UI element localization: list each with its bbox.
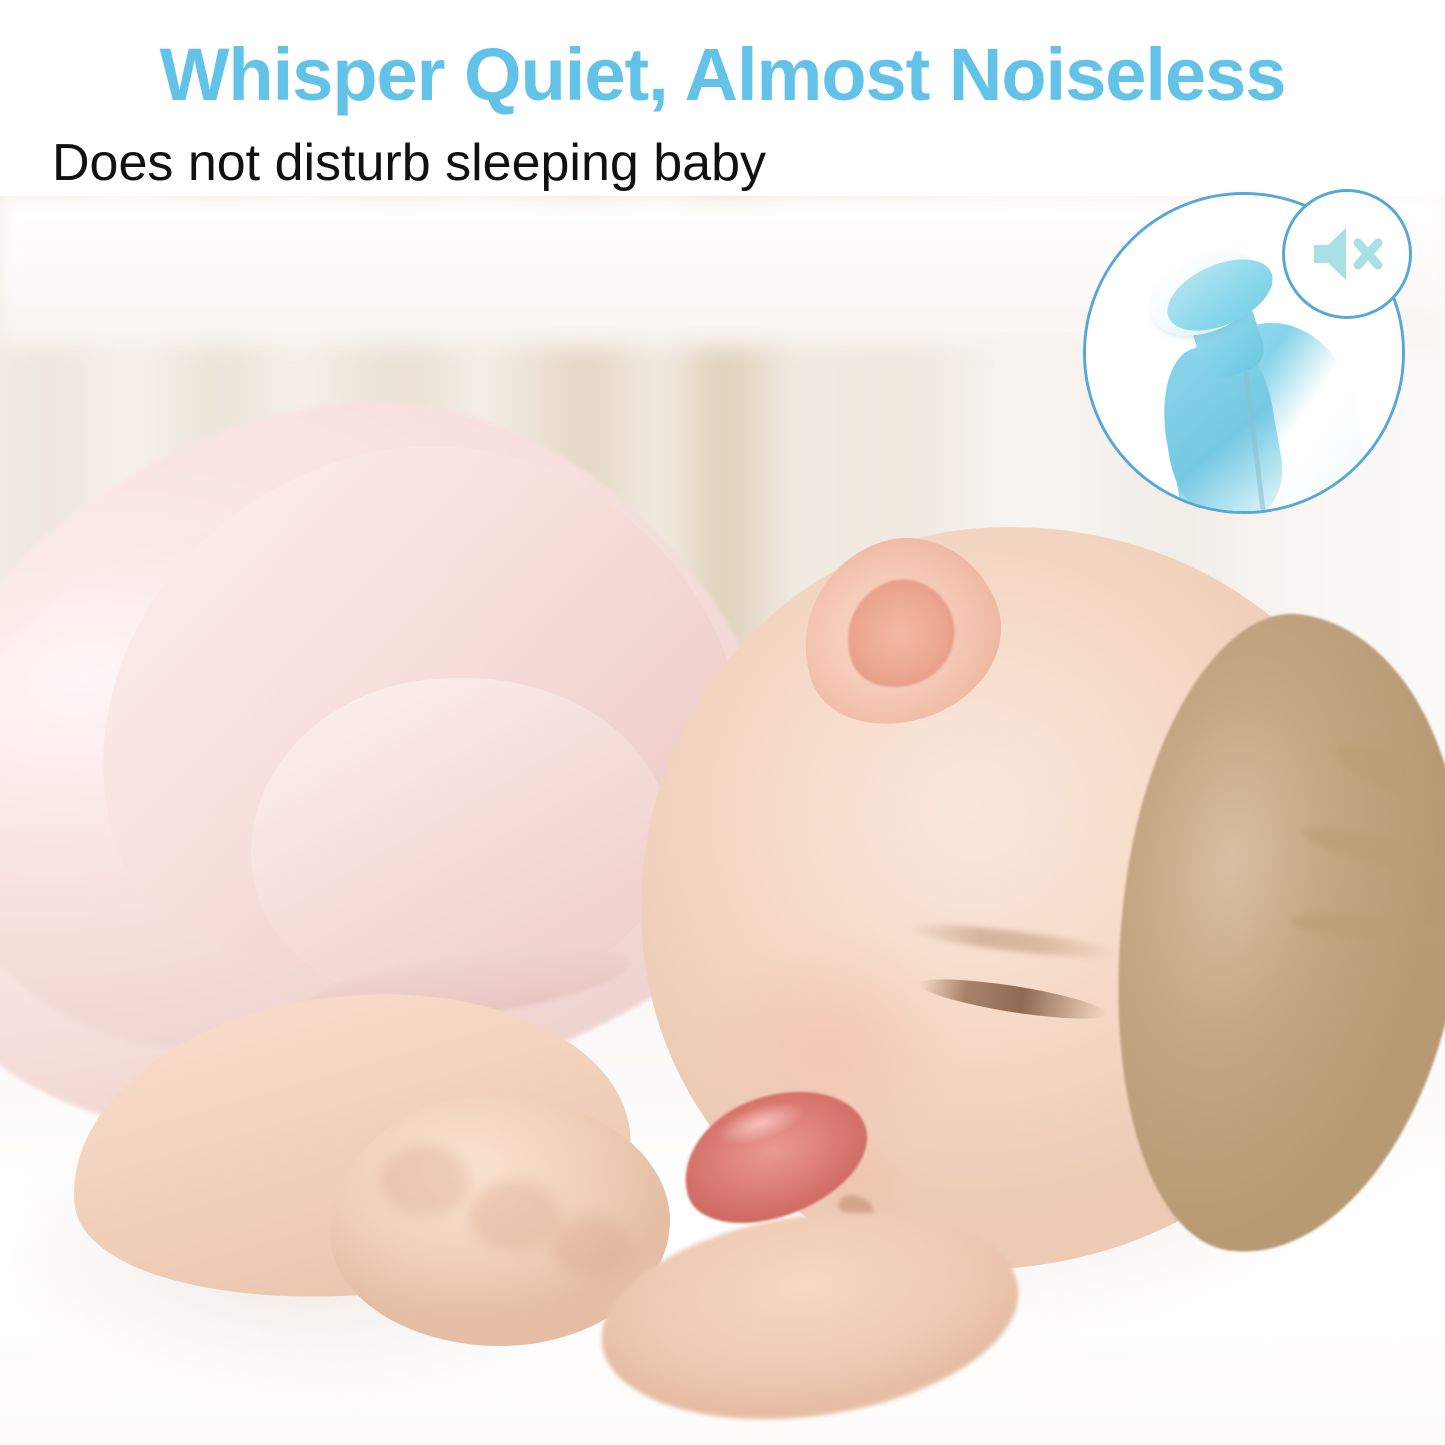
mute-speaker-icon (1310, 223, 1384, 285)
page-subtitle: Does not disturb sleeping baby (52, 133, 766, 193)
product-feature-poster: Whisper Quiet, Almost Noiseless Does not… (0, 0, 1445, 1445)
product-inset-circle (1083, 192, 1405, 514)
mute-badge (1282, 189, 1412, 319)
decibel-scale: 0dB No Sound 15dB Small items fall on th… (0, 1185, 1445, 1445)
page-title: Whisper Quiet, Almost Noiseless (0, 32, 1445, 117)
